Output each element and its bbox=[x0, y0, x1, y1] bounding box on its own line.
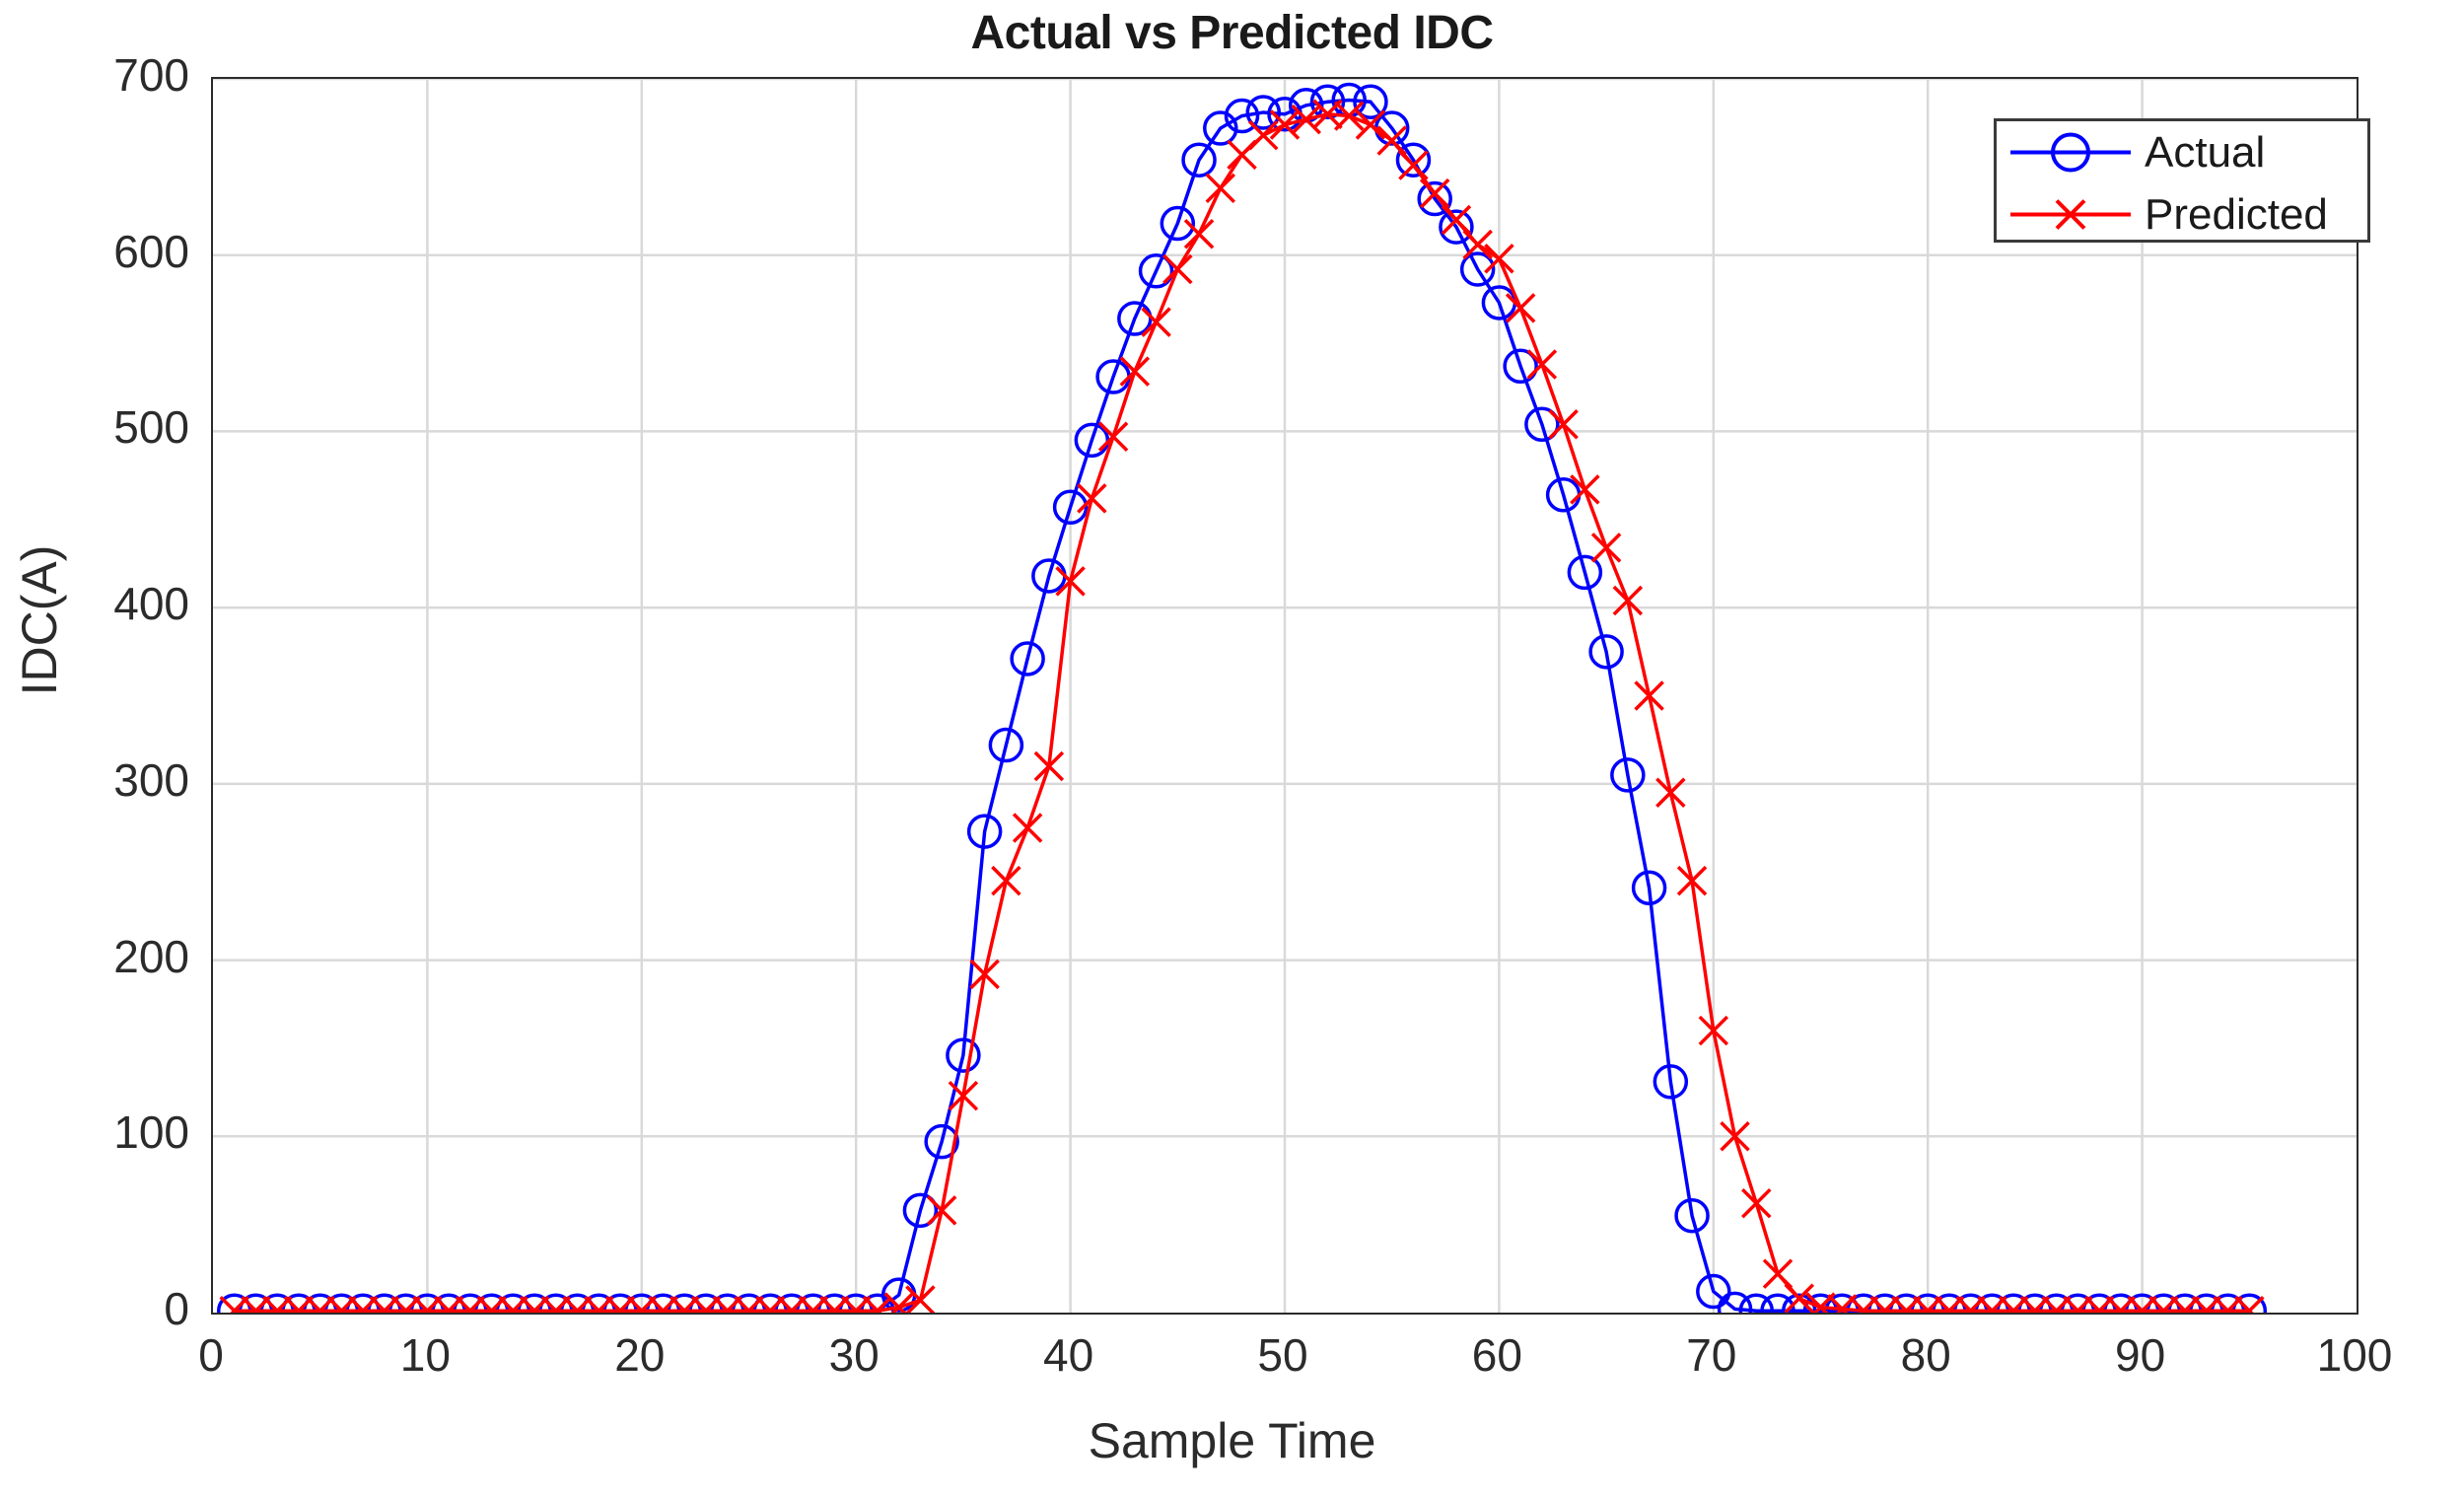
x-tick-label: 20 bbox=[561, 1328, 719, 1382]
plot-svg bbox=[213, 79, 2357, 1313]
data-point-marker-x bbox=[906, 1286, 934, 1313]
data-point-marker-x bbox=[1163, 255, 1191, 283]
legend-entry-actual[interactable]: Actual bbox=[1997, 121, 2367, 183]
legend-label-predicted: Predicted bbox=[2145, 190, 2328, 240]
y-tick-label: 100 bbox=[39, 1105, 189, 1159]
series-actual bbox=[219, 84, 2266, 1313]
data-point-marker-x bbox=[1742, 1189, 1770, 1217]
grid-lines bbox=[213, 79, 2357, 1313]
series-layer bbox=[219, 84, 2266, 1313]
data-point-marker-x bbox=[1121, 358, 1149, 386]
x-axis-label: Sample Time bbox=[0, 1412, 2464, 1469]
legend-marker-circle-icon bbox=[1997, 121, 2145, 183]
x-tick-label: 70 bbox=[1633, 1328, 1791, 1382]
y-tick-label: 200 bbox=[39, 930, 189, 983]
data-point-marker-x bbox=[1099, 423, 1127, 451]
data-point-marker-x bbox=[1014, 815, 1041, 842]
data-point-marker-x bbox=[1550, 410, 1578, 438]
x-tick-label: 90 bbox=[2062, 1328, 2219, 1382]
x-tick-label: 80 bbox=[1847, 1328, 2005, 1382]
series-line bbox=[235, 114, 2250, 1311]
series-line bbox=[235, 100, 2250, 1311]
data-point-marker-x bbox=[1207, 175, 1234, 202]
x-tick-label: 40 bbox=[990, 1328, 1148, 1382]
y-tick-label: 0 bbox=[39, 1282, 189, 1335]
page-title: Actual vs Predicted IDC bbox=[0, 6, 2464, 60]
data-point-marker-x bbox=[1143, 309, 1170, 336]
data-point-marker-x bbox=[992, 867, 1020, 894]
data-point-marker-x bbox=[1507, 294, 1534, 321]
plot-area bbox=[211, 77, 2358, 1315]
y-tick-label: 600 bbox=[39, 225, 189, 278]
legend: Actual Predicted bbox=[1994, 118, 2370, 243]
data-point-marker-x bbox=[1357, 110, 1384, 138]
x-tick-label: 10 bbox=[346, 1328, 504, 1382]
data-point-marker-x bbox=[1592, 534, 1620, 561]
figure-canvas: Actual vs Predicted IDC 0100200300400500… bbox=[0, 0, 2464, 1497]
data-point-marker-x bbox=[1636, 682, 1663, 710]
x-tick-label: 0 bbox=[132, 1328, 290, 1382]
data-point-marker-x bbox=[1614, 587, 1642, 614]
y-axis-label: IDC(A) bbox=[11, 472, 68, 768]
x-tick-label: 100 bbox=[2276, 1328, 2433, 1382]
x-tick-label: 30 bbox=[775, 1328, 933, 1382]
data-point-marker-x bbox=[928, 1196, 955, 1224]
legend-label-actual: Actual bbox=[2145, 128, 2265, 178]
data-point-marker-x bbox=[1528, 351, 1556, 379]
legend-marker-x-icon bbox=[1997, 183, 2145, 246]
x-tick-label: 50 bbox=[1204, 1328, 1362, 1382]
x-tick-label: 60 bbox=[1418, 1328, 1576, 1382]
data-point-marker-x bbox=[1764, 1260, 1792, 1288]
data-point-marker-x bbox=[1571, 475, 1598, 503]
legend-entry-predicted[interactable]: Predicted bbox=[1997, 183, 2367, 246]
y-tick-label: 700 bbox=[39, 48, 189, 102]
y-tick-label: 500 bbox=[39, 400, 189, 454]
series-predicted bbox=[221, 101, 2264, 1313]
